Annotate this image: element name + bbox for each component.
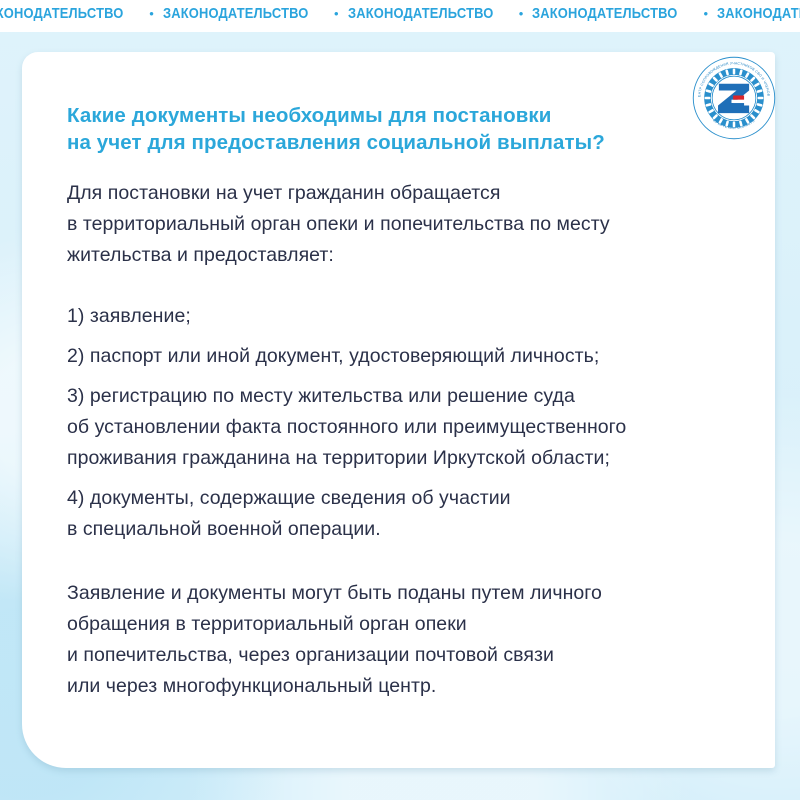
list-item-3-line-2: об установлении факта постоянного или пр… xyxy=(67,412,732,443)
banner-track: ЗАКОНОДАТЕЛЬСТВО • ЗАКОНОДАТЕЛЬСТВО • ЗА… xyxy=(0,5,800,22)
page-title-line-2: на учет для предоставления социальной вы… xyxy=(67,129,687,156)
intro-line-3: жительства и предоставляет: xyxy=(67,240,732,271)
body-content: Для постановки на учет гражданин обращае… xyxy=(67,178,732,702)
banner-separator-dot: • xyxy=(517,7,533,20)
banner-underline xyxy=(0,27,800,32)
closing-line-2: обращения в территориальный орган опеки xyxy=(67,609,732,640)
spacer xyxy=(67,332,732,341)
banner-word: ЗАКОНОДАТЕЛЬСТВО xyxy=(0,5,124,22)
list-item: 3) регистрацию по месту жительства или р… xyxy=(67,381,732,474)
spacer xyxy=(67,474,732,483)
banner-word: ЗАКОНОДАТЕЛЬСТВО xyxy=(348,5,494,22)
list-item-4-line-2: в специальной военной операции. xyxy=(67,514,732,545)
closing-line-3: и попечительства, через организации почт… xyxy=(67,640,732,671)
slide-root: ЗАКОНОДАТЕЛЬСТВО • ЗАКОНОДАТЕЛЬСТВО • ЗА… xyxy=(0,0,800,800)
banner-word: ЗАКОНОДАТЕЛЬСТВО xyxy=(717,5,800,22)
spacer xyxy=(67,545,732,578)
list-item: 1) заявление; xyxy=(67,301,732,332)
card-content-area: Какие документы необходимы для постановк… xyxy=(67,52,727,768)
list-item-2-line-1: 2) паспорт или иной документ, удостоверя… xyxy=(67,341,732,372)
list-item: 2) паспорт или иной документ, удостоверя… xyxy=(67,341,732,372)
closing-paragraph: Заявление и документы могут быть поданы … xyxy=(67,578,732,702)
list-item-4-line-1: 4) документы, содержащие сведения об уча… xyxy=(67,483,732,514)
closing-line-1: Заявление и документы могут быть поданы … xyxy=(67,578,732,609)
banner-word: ЗАКОНОДАТЕЛЬСТВО xyxy=(532,5,678,22)
spacer xyxy=(67,372,732,381)
banner-word: ЗАКОНОДАТЕЛЬСТВО xyxy=(163,5,309,22)
banner-separator-dot: • xyxy=(332,7,348,20)
intro-line-2: в территориальный орган опеки и попечите… xyxy=(67,209,732,240)
closing-line-4: или через многофункциональный центр. xyxy=(67,671,732,702)
spacer xyxy=(67,271,732,301)
list-item-3-line-3: проживания гражданина на территории Ирку… xyxy=(67,443,732,474)
intro-line-1: Для постановки на учет гражданин обращае… xyxy=(67,178,732,209)
list-item: 4) документы, содержащие сведения об уча… xyxy=(67,483,732,545)
list-item-1-line-1: 1) заявление; xyxy=(67,301,732,332)
page-title: Какие документы необходимы для постановк… xyxy=(67,102,687,156)
list-item-3-line-1: 3) регистрацию по месту жительства или р… xyxy=(67,381,732,412)
page-title-line-1: Какие документы необходимы для постановк… xyxy=(67,102,687,129)
legislation-banner: ЗАКОНОДАТЕЛЬСТВО • ЗАКОНОДАТЕЛЬСТВО • ЗА… xyxy=(0,0,800,27)
content-card: Какие документы необходимы для постановк… xyxy=(22,52,775,768)
intro-paragraph: Для постановки на учет гражданин обращае… xyxy=(67,178,732,271)
banner-separator-dot: • xyxy=(701,7,717,20)
z-emblem-icon: ЕДИНЫЙ ЦЕНТР СОПРОВОЖДЕНИЯ УЧАСТНИКОВ СВ… xyxy=(692,56,776,140)
banner-separator-dot: • xyxy=(147,7,163,20)
